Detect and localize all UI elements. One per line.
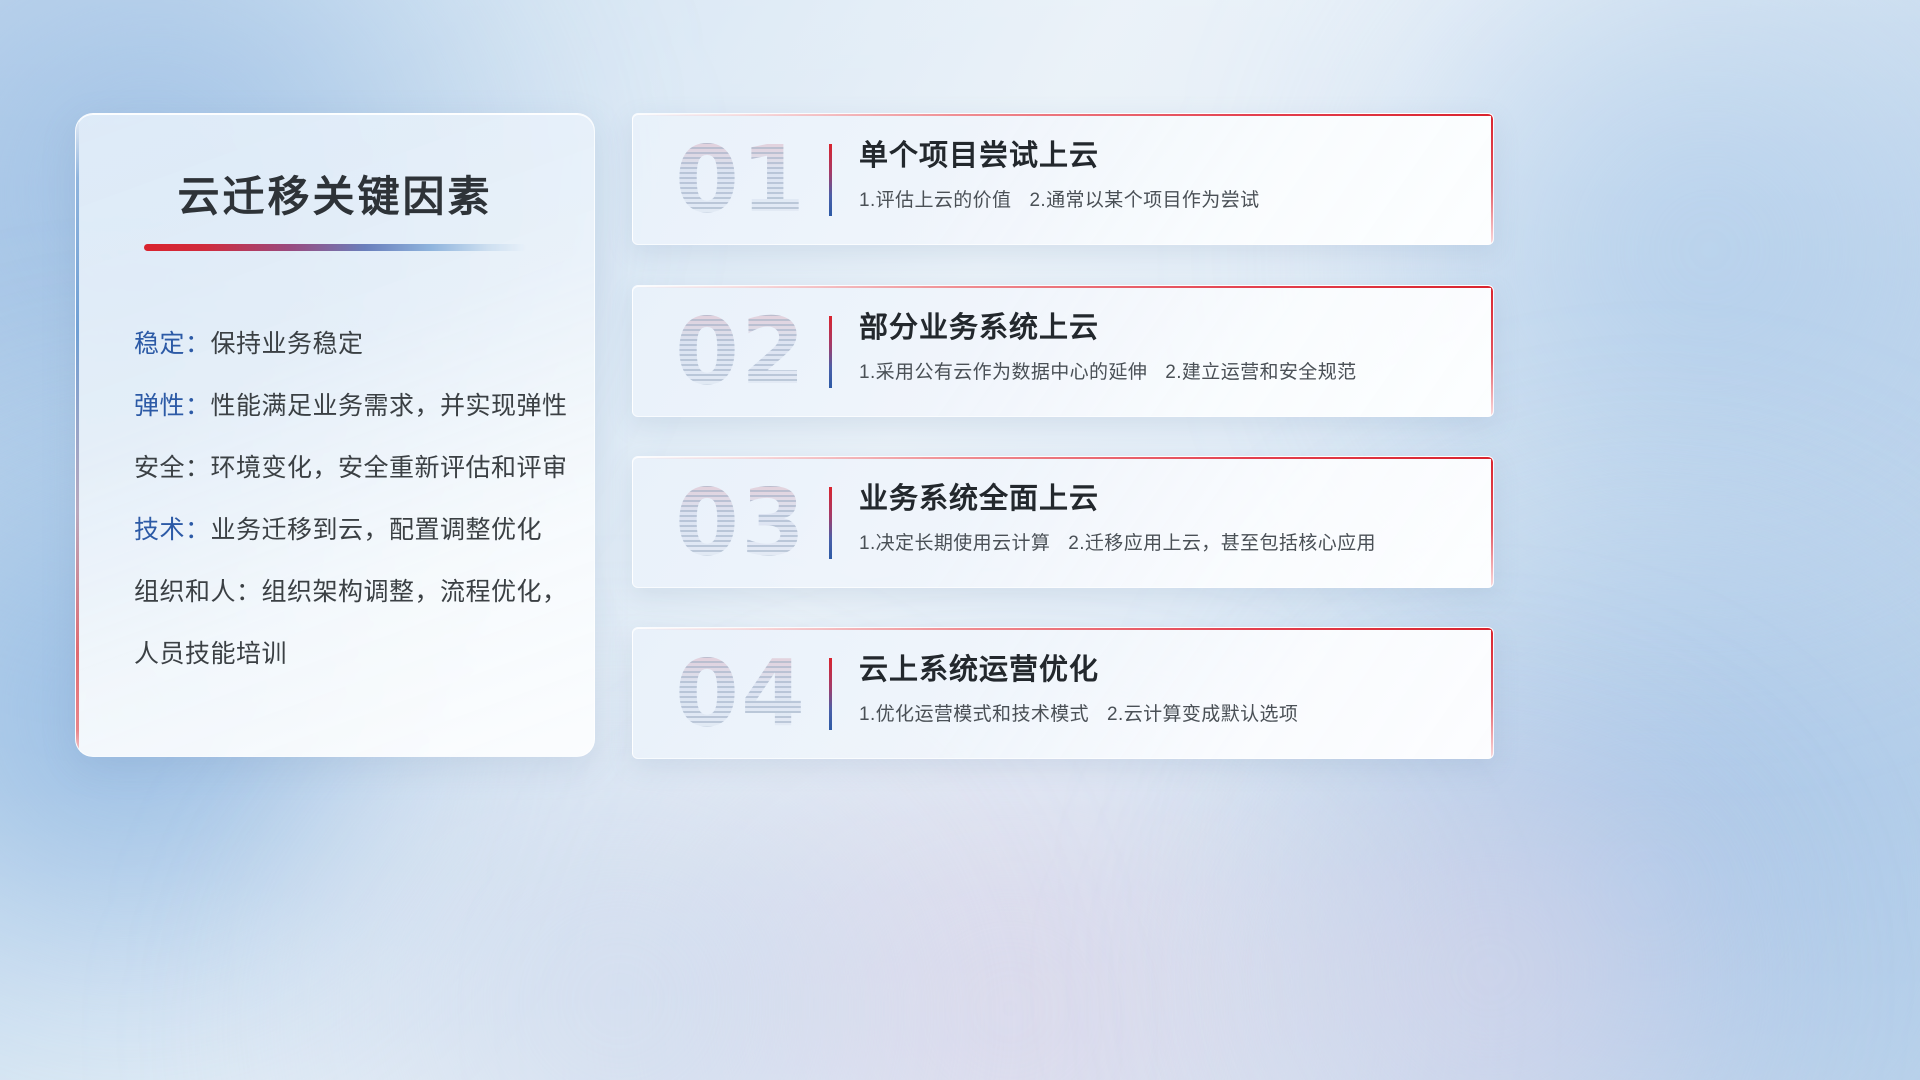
list-item-key: 安全： [134,454,211,482]
list-item: 弹性：性能满足业务需求，并实现弹性 [134,375,560,437]
list-item-value: 环境变化，安全重新评估和评审 [211,454,568,482]
card-point-2: 2.迁移应用上云，甚至包括核心应用 [1068,533,1376,554]
card-number: 01 [675,132,843,228]
key-factors-list: 稳定：保持业务稳定 弹性：性能满足业务需求，并实现弹性 安全：环境变化，安全重新… [110,313,560,685]
card-right-accent [1491,457,1493,587]
list-item-key: 稳定： [134,330,211,358]
list-item-value: 人员技能培训 [134,640,287,668]
card-point-2: 2.云计算变成默认选项 [1107,704,1298,725]
card-title: 部分业务系统上云 [859,310,1467,346]
card-title: 业务系统全面上云 [859,481,1467,517]
card-description: 1.评估上云的价值2.通常以某个项目作为尝试 [859,188,1467,215]
card-number: 02 [675,304,843,400]
list-item-key: 弹性： [134,392,211,420]
card-divider [829,316,832,388]
list-item-key: 组织和人： [134,578,262,606]
card-point-2: 2.建立运营和安全规范 [1165,362,1356,383]
stage-card-04[interactable]: 04 云上系统运营优化 1.优化运营模式和技术模式2.云计算变成默认选项 [632,627,1494,759]
list-item: 技术：业务迁移到云，配置调整优化 [134,499,560,561]
page-title: 云迁移关键因素 [110,172,560,222]
card-title: 单个项目尝试上云 [859,138,1467,174]
stage-card-03[interactable]: 03 业务系统全面上云 1.决定长期使用云计算2.迁移应用上云，甚至包括核心应用 [632,456,1494,588]
card-top-accent [633,628,1493,630]
stage-card-02[interactable]: 02 部分业务系统上云 1.采用公有云作为数据中心的延伸2.建立运营和安全规范 [632,285,1494,417]
card-point-1: 1.采用公有云作为数据中心的延伸 [859,362,1147,383]
list-item-value: 性能满足业务需求，并实现弹性 [211,392,568,420]
card-description: 1.采用公有云作为数据中心的延伸2.建立运营和安全规范 [859,360,1467,387]
slide-stage: 云迁移关键因素 稳定：保持业务稳定 弹性：性能满足业务需求，并实现弹性 安全：环… [0,0,1920,1080]
list-item: 安全：环境变化，安全重新评估和评审 [134,437,560,499]
list-item-key: 技术： [134,516,211,544]
card-right-accent [1491,114,1493,244]
card-divider [829,658,832,730]
card-top-accent [633,286,1493,288]
list-item-value: 组织架构调整，流程优化， [262,578,568,606]
list-item: 稳定：保持业务稳定 [134,313,560,375]
card-point-1: 1.决定长期使用云计算 [859,533,1050,554]
card-description: 1.优化运营模式和技术模式2.云计算变成默认选项 [859,702,1467,729]
list-item-value: 业务迁移到云，配置调整优化 [211,516,543,544]
stage-card-01[interactable]: 01 单个项目尝试上云 1.评估上云的价值2.通常以某个项目作为尝试 [632,113,1494,245]
card-right-accent [1491,286,1493,416]
card-point-1: 1.评估上云的价值 [859,190,1011,211]
card-description: 1.决定长期使用云计算2.迁移应用上云，甚至包括核心应用 [859,531,1467,558]
card-number: 04 [675,646,843,742]
list-item-value: 保持业务稳定 [211,330,364,358]
card-top-accent [633,457,1493,459]
card-point-2: 2.通常以某个项目作为尝试 [1029,190,1259,211]
card-point-1: 1.优化运营模式和技术模式 [859,704,1089,725]
key-factors-panel: 云迁移关键因素 稳定：保持业务稳定 弹性：性能满足业务需求，并实现弹性 安全：环… [75,113,595,757]
card-divider [829,144,832,216]
card-title: 云上系统运营优化 [859,652,1467,688]
card-divider [829,487,832,559]
list-item: 人员技能培训 [134,623,560,685]
title-underline [144,244,526,251]
list-item: 组织和人：组织架构调整，流程优化， [134,561,560,623]
card-right-accent [1491,628,1493,758]
card-number: 03 [675,475,843,571]
card-top-accent [633,114,1493,116]
